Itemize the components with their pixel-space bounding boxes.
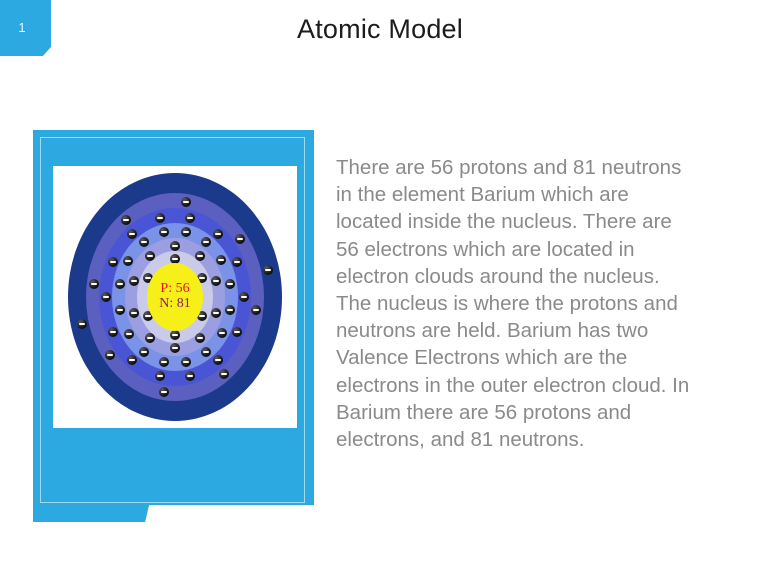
- nucleus-neutrons-label: N: 81: [159, 297, 191, 312]
- electron: [225, 279, 235, 289]
- electron: [139, 237, 149, 247]
- electron: [239, 292, 249, 302]
- atom-diagram-image: P: 56 N: 81: [53, 166, 297, 428]
- electron: [127, 355, 137, 365]
- electron: [225, 305, 235, 315]
- atom-nucleus: P: 56 N: 81: [147, 263, 203, 331]
- electron: [108, 257, 118, 267]
- slide-number-label: 1: [0, 21, 44, 34]
- electron: [195, 333, 205, 343]
- electron: [201, 237, 211, 247]
- electron: [145, 251, 155, 261]
- nucleus-protons-label: P: 56: [160, 282, 189, 297]
- electron: [170, 343, 180, 353]
- electron: [155, 213, 165, 223]
- electron: [115, 305, 125, 315]
- electron: [89, 279, 99, 289]
- slide-number-badge: 1: [0, 0, 51, 56]
- electron: [195, 251, 205, 261]
- page-title: Atomic Model: [120, 14, 640, 45]
- electron: [181, 197, 191, 207]
- electron: [123, 256, 133, 266]
- electron: [217, 328, 227, 338]
- electron: [251, 305, 261, 315]
- electron: [201, 347, 211, 357]
- electron: [232, 257, 242, 267]
- electron: [139, 347, 149, 357]
- electron: [185, 371, 195, 381]
- electron: [101, 292, 111, 302]
- electron: [115, 279, 125, 289]
- electron: [181, 227, 191, 237]
- electron: [159, 357, 169, 367]
- electron: [181, 357, 191, 367]
- electron: [159, 387, 169, 397]
- electron: [213, 229, 223, 239]
- electron: [124, 329, 134, 339]
- electron: [213, 355, 223, 365]
- electron: [127, 229, 137, 239]
- electron: [170, 330, 180, 340]
- electron: [145, 333, 155, 343]
- electron: [108, 327, 118, 337]
- electron: [121, 215, 131, 225]
- electron: [170, 241, 180, 251]
- electron: [263, 265, 273, 275]
- electron: [77, 319, 87, 329]
- electron: [232, 327, 242, 337]
- slide-canvas: 1 Atomic Model P: 56 N: 81 There are 56 …: [0, 0, 768, 561]
- body-paragraph: There are 56 protons and 81 neutrons in …: [336, 154, 696, 453]
- electron: [211, 276, 221, 286]
- electron: [129, 276, 139, 286]
- electron: [129, 308, 139, 318]
- electron: [185, 213, 195, 223]
- electron: [219, 369, 229, 379]
- electron: [211, 308, 221, 318]
- electron: [105, 350, 115, 360]
- electron: [159, 227, 169, 237]
- electron: [216, 255, 226, 265]
- electron: [155, 371, 165, 381]
- electron: [235, 234, 245, 244]
- bohr-model-diagram: P: 56 N: 81: [68, 173, 282, 421]
